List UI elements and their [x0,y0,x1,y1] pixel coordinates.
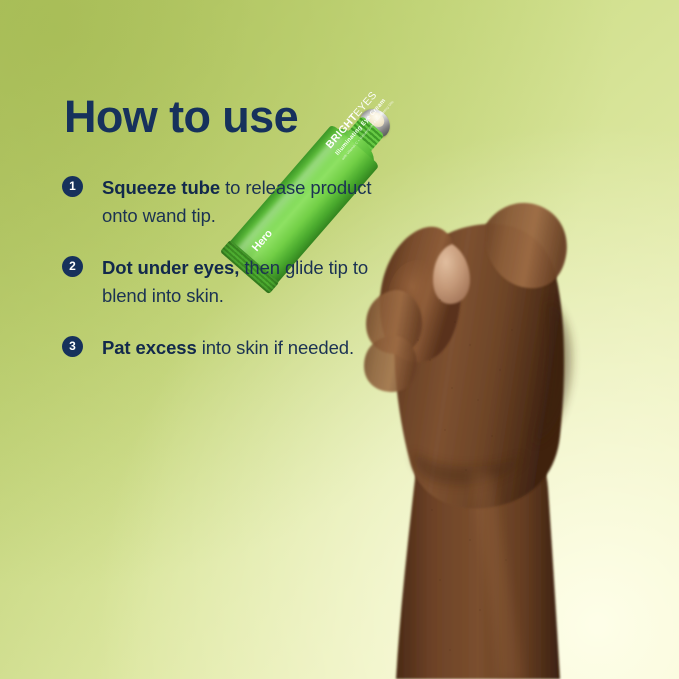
step-lead-1: Squeeze tube [102,177,220,198]
list-item: 2 Dot under eyes, then glide tip to blen… [62,254,392,310]
step-text-3: Pat excess into skin if needed. [102,334,392,362]
list-item: 1 Squeeze tube to release product onto w… [62,174,392,230]
step-badge-2: 2 [62,256,83,277]
step-badge-1: 1 [62,176,83,197]
step-lead-3: Pat excess [102,337,197,358]
step-text-1: Squeeze tube to release product onto wan… [102,174,392,230]
list-item: 3 Pat excess into skin if needed. [62,334,392,362]
step-lead-2: Dot under eyes, [102,257,239,278]
step-text-2: Dot under eyes, then glide tip to blend … [102,254,392,310]
steps-list: 1 Squeeze tube to release product onto w… [62,174,392,363]
step-badge-3: 3 [62,336,83,357]
how-to-use-infographic: BRIGHTEYES Illuminating Eye Cream with V… [0,0,679,679]
page-title: How to use [64,93,298,140]
step-rest-3: into skin if needed. [197,337,354,358]
